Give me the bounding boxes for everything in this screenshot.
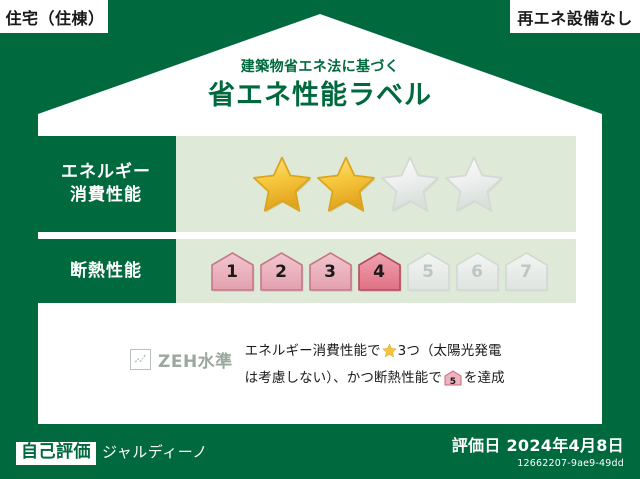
footer-right: 評価日 2024年4月8日 12662207-9ae9-49dd [452, 432, 624, 469]
zeh-checkbox-icon [130, 349, 151, 370]
insulation-grade-5: 5 [405, 248, 452, 294]
row-insulation-label-line1: 断熱性能 [70, 260, 142, 283]
star-filled-icon [251, 154, 313, 214]
energy-performance-label: 住宅（住棟） 再エネ設備なし 建築物省エネ法に基づく 省エネ性能ラベル エネルギ… [0, 0, 640, 479]
star-rating [251, 154, 505, 214]
zeh-mark: ZEH水準 [130, 347, 233, 372]
badge-dwelling-type: 住宅（住棟） [0, 0, 108, 33]
row-energy-label-line1: エネルギー [61, 161, 151, 184]
inline-star-icon [382, 346, 397, 362]
footer-left: 自己評価 ジャルディーノ [16, 441, 208, 465]
insulation-grade-1: 1 [209, 248, 256, 294]
label-id: 12662207-9ae9-49dd [452, 458, 624, 469]
star-empty-icon [379, 154, 441, 214]
insulation-grade-number: 5 [405, 264, 452, 281]
label-title: 建築物省エネ法に基づく 省エネ性能ラベル [0, 56, 640, 111]
row-insulation-performance: 断熱性能 1234567 [36, 239, 576, 303]
zeh-description: エネルギー消費性能で3つ（太陽光発電は考慮しない）、かつ断熱性能で5を達成 [245, 340, 517, 394]
self-evaluation-badge: 自己評価 [16, 442, 96, 465]
row-energy-label: エネルギー 消費性能 [36, 136, 176, 232]
insulation-grade-number: 1 [209, 264, 256, 281]
insulation-grade-4: 4 [356, 248, 403, 294]
zeh-note: ZEH水準 エネルギー消費性能で3つ（太陽光発電は考慮しない）、かつ断熱性能で5… [130, 340, 517, 394]
company-name: ジャルディーノ [102, 441, 208, 462]
row-insulation-label: 断熱性能 [36, 239, 176, 303]
star-empty-icon [443, 154, 505, 214]
insulation-grade-6: 6 [454, 248, 501, 294]
zeh-desc-part3: は考慮しない）、かつ断熱性能で [245, 370, 442, 386]
inline-grade-icon: 5 [444, 370, 462, 395]
insulation-grade-scale: 1234567 [209, 248, 550, 294]
insulation-grade-number: 6 [454, 264, 501, 281]
zeh-label: ZEH水準 [158, 347, 233, 372]
insulation-grade-2: 2 [258, 248, 305, 294]
zeh-desc-part2: 3つ（太陽光発電 [398, 343, 502, 359]
zeh-desc-part4: を達成 [464, 370, 505, 386]
insulation-grade-number: 2 [258, 264, 305, 281]
badge-renewable-energy: 再エネ設備なし [510, 0, 640, 33]
insulation-grade-7: 7 [503, 248, 550, 294]
title-subtitle: 建築物省エネ法に基づく [0, 56, 640, 76]
row-energy-label-line2: 消費性能 [70, 184, 142, 207]
insulation-grade-3: 3 [307, 248, 354, 294]
inline-grade-number: 5 [444, 375, 462, 391]
insulation-grade-number: 4 [356, 264, 403, 281]
row-energy-panel [176, 136, 576, 232]
title-main: 省エネ性能ラベル [0, 81, 640, 111]
row-insulation-panel: 1234567 [176, 239, 576, 303]
star-filled-icon [315, 154, 377, 214]
insulation-grade-number: 3 [307, 264, 354, 281]
insulation-grade-number: 7 [503, 264, 550, 281]
evaluation-date: 評価日 2024年4月8日 [452, 432, 624, 456]
zeh-desc-part1: エネルギー消費性能で [245, 343, 381, 359]
row-energy-performance: エネルギー 消費性能 [36, 136, 576, 232]
